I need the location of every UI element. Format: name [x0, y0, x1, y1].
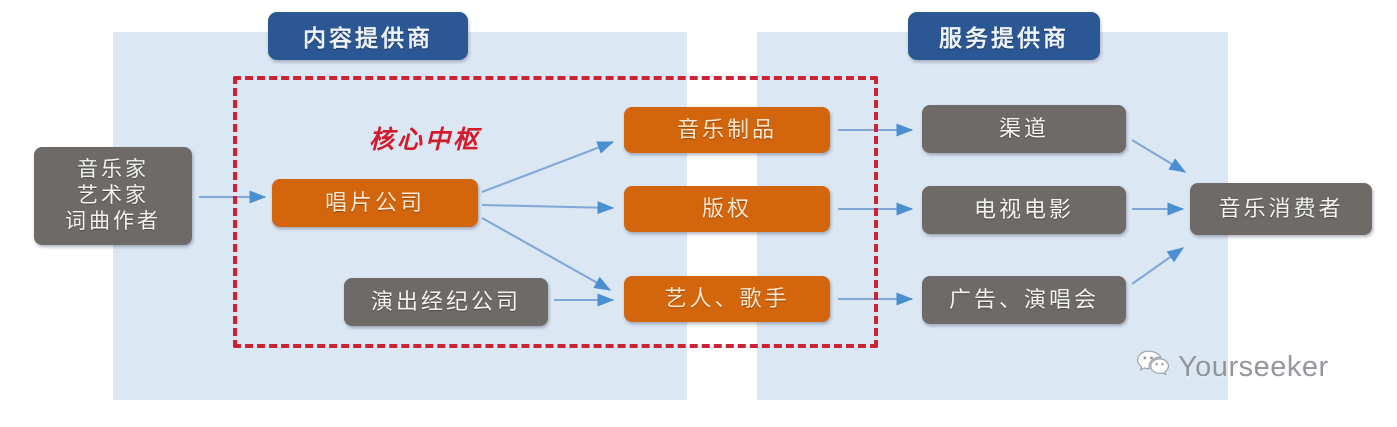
edge-label-co-to-copyright [482, 205, 613, 208]
node-record-label: 唱片公司 [272, 179, 478, 227]
node-music-products-text: 音乐制品 [677, 116, 777, 144]
node-music-consumers-text: 音乐消费者 [1218, 195, 1343, 223]
node-channel: 渠道 [922, 105, 1126, 153]
watermark: Yourseeker [1136, 349, 1329, 385]
node-copyright: 版权 [624, 186, 830, 232]
node-channel-text: 渠道 [999, 115, 1049, 143]
header-content-provider: 内容提供商 [268, 12, 468, 60]
edge-channel-to-consumers [1132, 140, 1185, 172]
edge-adconcert-to-consumers [1132, 248, 1183, 284]
node-advertising-concerts-text: 广告、演唱会 [949, 286, 1099, 314]
node-record-label-text: 唱片公司 [325, 189, 425, 217]
node-creators: 音乐家 艺术家 词曲作者 [34, 147, 192, 245]
wechat-icon [1136, 349, 1170, 385]
watermark-text: Yourseeker [1178, 351, 1329, 384]
node-advertising-concerts: 广告、演唱会 [922, 276, 1126, 324]
node-performance-agency: 演出经纪公司 [344, 278, 548, 326]
node-creators-line-3: 词曲作者 [65, 209, 161, 235]
node-music-products: 音乐制品 [624, 107, 830, 153]
node-tv-film: 电视电影 [922, 186, 1126, 234]
node-artists-singers-text: 艺人、歌手 [664, 285, 789, 313]
node-artists-singers: 艺人、歌手 [624, 276, 830, 322]
node-copyright-text: 版权 [702, 195, 752, 223]
node-creators-line-2: 艺术家 [77, 183, 149, 209]
node-creators-line-1: 音乐家 [77, 157, 149, 183]
header-service-provider: 服务提供商 [908, 12, 1100, 60]
core-hub-label: 核心中枢 [330, 120, 520, 156]
diagram-canvas: 核心中枢 内容提供商 服务提供商 音乐家 艺术家 词曲作者 唱片公司 演出经纪公… [0, 0, 1397, 427]
node-performance-agency-text: 演出经纪公司 [371, 288, 521, 316]
node-music-consumers: 音乐消费者 [1190, 183, 1372, 235]
node-tv-film-text: 电视电影 [974, 196, 1074, 224]
